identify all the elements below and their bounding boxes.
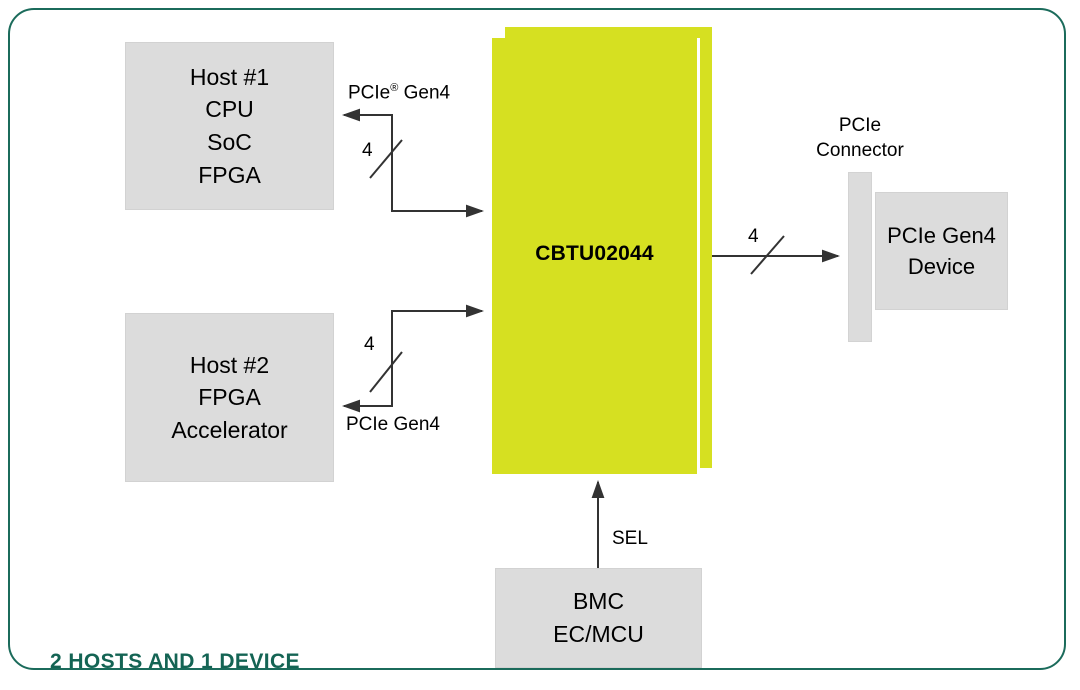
host2-block[interactable]: Host #2 FPGA Accelerator (125, 313, 334, 482)
host1-line-2: CPU (205, 93, 254, 126)
bmc-line-1: BMC (573, 585, 624, 618)
host1-bus-label-suffix: Gen4 (398, 82, 450, 103)
device-lane-count: 4 (748, 226, 759, 248)
host2-bus-label: PCIe Gen4 (346, 414, 440, 436)
host1-lane-count: 4 (362, 140, 373, 162)
bmc-block[interactable]: BMC EC/MCU (495, 568, 702, 668)
bmc-line-2: EC/MCU (553, 618, 644, 651)
wire-device-bus (700, 236, 838, 274)
diagram-caption: 2 HOSTS AND 1 DEVICE (50, 650, 300, 674)
wire-host1-upstream (370, 115, 482, 211)
wire-host2-downstream (344, 311, 402, 406)
host2-line-1: Host #2 (190, 349, 269, 382)
host1-bus-label: PCIe® Gen4 (348, 82, 450, 104)
host2-line-3: Accelerator (171, 414, 287, 447)
pcie-connector-label: PCIe Connector (790, 114, 930, 163)
pcie-device-block[interactable]: PCIe Gen4 Device (875, 192, 1008, 310)
host1-bus-label-text: PCIe (348, 82, 390, 103)
connector-line-1: PCIe (839, 115, 881, 136)
host1-line-3: SoC (207, 126, 252, 159)
host1-line-1: Host #1 (190, 61, 269, 94)
host2-line-2: FPGA (198, 381, 261, 414)
host1-block[interactable]: Host #1 CPU SoC FPGA (125, 42, 334, 210)
chip-label: CBTU02044 (492, 242, 697, 266)
pcie-connector-bar (848, 172, 872, 342)
wire-host1-downstream (344, 115, 392, 211)
device-line-1: PCIe Gen4 (887, 220, 996, 251)
host2-lane-count: 4 (364, 334, 375, 356)
wire-host2-upstream (392, 311, 482, 406)
host1-line-4: FPGA (198, 159, 261, 192)
device-line-2: Device (908, 251, 975, 282)
diagram-canvas: CBTU02044 Host #1 CPU SoC FPGA Host #2 F… (0, 0, 1080, 690)
sel-label: SEL (612, 528, 648, 550)
connector-line-2: Connector (816, 140, 904, 161)
